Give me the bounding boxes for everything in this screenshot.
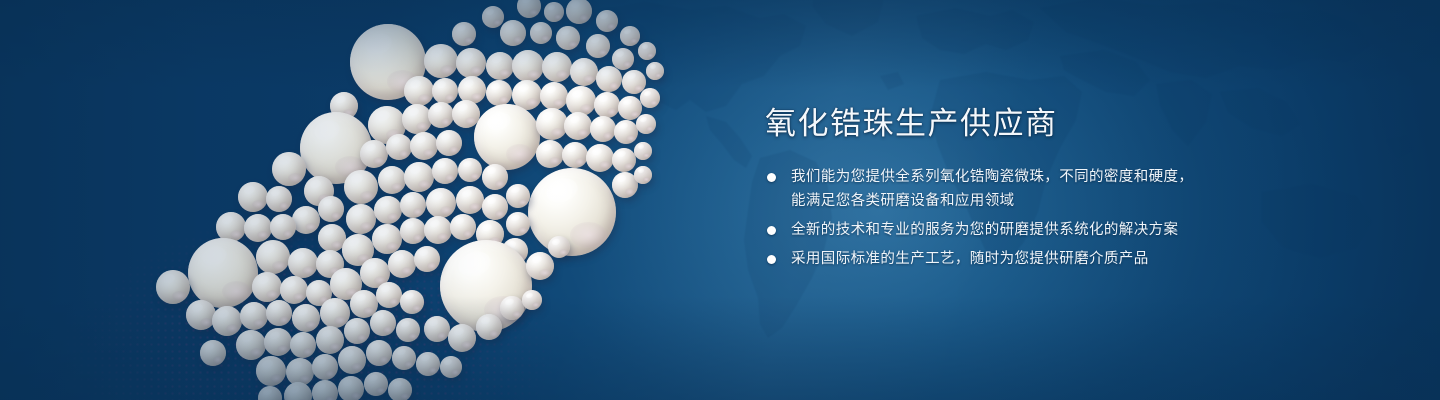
bullet-line: 全新的技术和专业的服务为您的研磨提供系统化的解决方案 <box>791 219 1365 242</box>
bullet-line: 能满足您各类研磨设备和应用领域 <box>791 190 1365 213</box>
hero-banner: 氧化锆珠生产供应商 我们能为您提供全系列氧化锆陶瓷微珠，不同的密度和硬度， 能满… <box>0 0 1440 400</box>
banner-bullet-list: 我们能为您提供全系列氧化锆陶瓷微珠，不同的密度和硬度， 能满足您各类研磨设备和应… <box>765 166 1365 271</box>
bullet-dot-icon <box>767 226 776 235</box>
bullet-line: 我们能为您提供全系列氧化锆陶瓷微珠，不同的密度和硬度， <box>791 166 1365 189</box>
bullet-dot-icon <box>767 255 776 264</box>
bullet-line: 采用国际标准的生产工艺，随时为您提供研磨介质产品 <box>791 248 1365 271</box>
bullet-dot-icon <box>767 173 776 182</box>
list-item: 全新的技术和专业的服务为您的研磨提供系统化的解决方案 <box>765 219 1365 242</box>
banner-headline: 氧化锆珠生产供应商 <box>765 104 1365 144</box>
banner-copy: 氧化锆珠生产供应商 我们能为您提供全系列氧化锆陶瓷微珠，不同的密度和硬度， 能满… <box>765 104 1365 271</box>
list-item: 我们能为您提供全系列氧化锆陶瓷微珠，不同的密度和硬度， 能满足您各类研磨设备和应… <box>765 166 1365 213</box>
list-item: 采用国际标准的生产工艺，随时为您提供研磨介质产品 <box>765 248 1365 271</box>
